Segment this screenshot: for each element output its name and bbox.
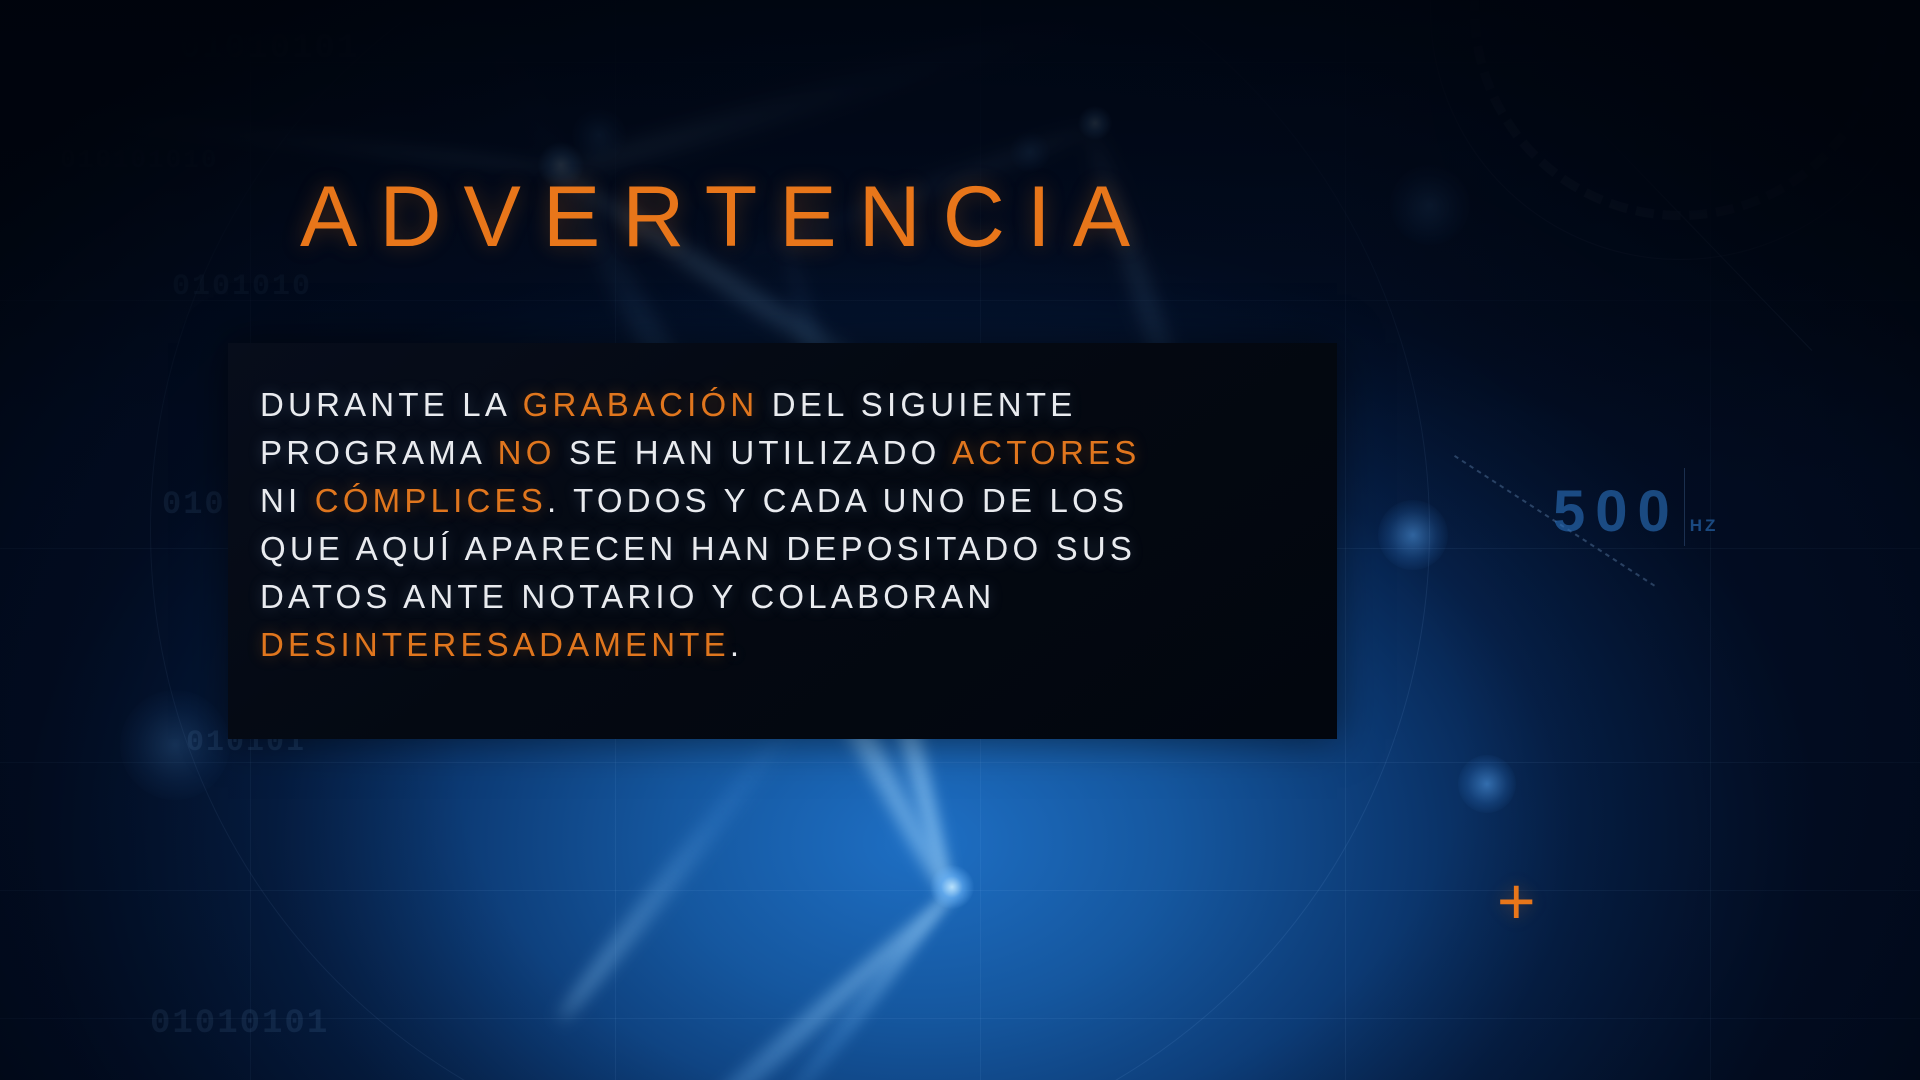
- frequency-readout: 500 HZ: [1553, 478, 1718, 545]
- notice-line: DATOS ANTE NOTARIO Y COLABORAN: [260, 573, 1310, 621]
- notice-fragment: SE HAN UTILIZADO: [556, 434, 953, 471]
- page-title: ADVERTENCIA: [300, 168, 1152, 267]
- notice-fragment: NI: [260, 482, 315, 519]
- notice-keyword: CÓMPLICES: [315, 482, 547, 519]
- notice-fragment: .: [730, 626, 743, 663]
- slide-canvas: 01010101 0101010 0101010101 010101 01010…: [0, 0, 1920, 1080]
- notice-line: DURANTE LA GRABACIÓN DEL SIGUIENTE: [260, 381, 1310, 429]
- notice-text: DURANTE LA GRABACIÓN DEL SIGUIENTEPROGRA…: [260, 381, 1310, 669]
- notice-fragment: . TODOS Y CADA UNO DE LOS: [547, 482, 1128, 519]
- notice-line: NI CÓMPLICES. TODOS Y CADA UNO DE LOS: [260, 477, 1310, 525]
- frequency-value: 500: [1553, 478, 1680, 545]
- notice-keyword: ACTORES: [952, 434, 1140, 471]
- notice-fragment: PROGRAMA: [260, 434, 498, 471]
- notice-panel: DURANTE LA GRABACIÓN DEL SIGUIENTEPROGRA…: [228, 343, 1337, 739]
- notice-line: DESINTERESADAMENTE.: [260, 621, 1310, 669]
- notice-fragment: DEL SIGUIENTE: [758, 386, 1076, 423]
- notice-fragment: QUE AQUÍ APARECEN HAN DEPOSITADO SUS: [260, 530, 1136, 567]
- plus-marker-icon: +: [1497, 868, 1536, 934]
- notice-line: PROGRAMA NO SE HAN UTILIZADO ACTORES: [260, 429, 1310, 477]
- notice-keyword: DESINTERESADAMENTE: [260, 626, 730, 663]
- notice-line: QUE AQUÍ APARECEN HAN DEPOSITADO SUS: [260, 525, 1310, 573]
- notice-keyword: NO: [498, 434, 556, 471]
- notice-fragment: DURANTE LA: [260, 386, 523, 423]
- notice-fragment: DATOS ANTE NOTARIO Y COLABORAN: [260, 578, 995, 615]
- frequency-unit: HZ: [1690, 516, 1719, 536]
- notice-keyword: GRABACIÓN: [523, 386, 759, 423]
